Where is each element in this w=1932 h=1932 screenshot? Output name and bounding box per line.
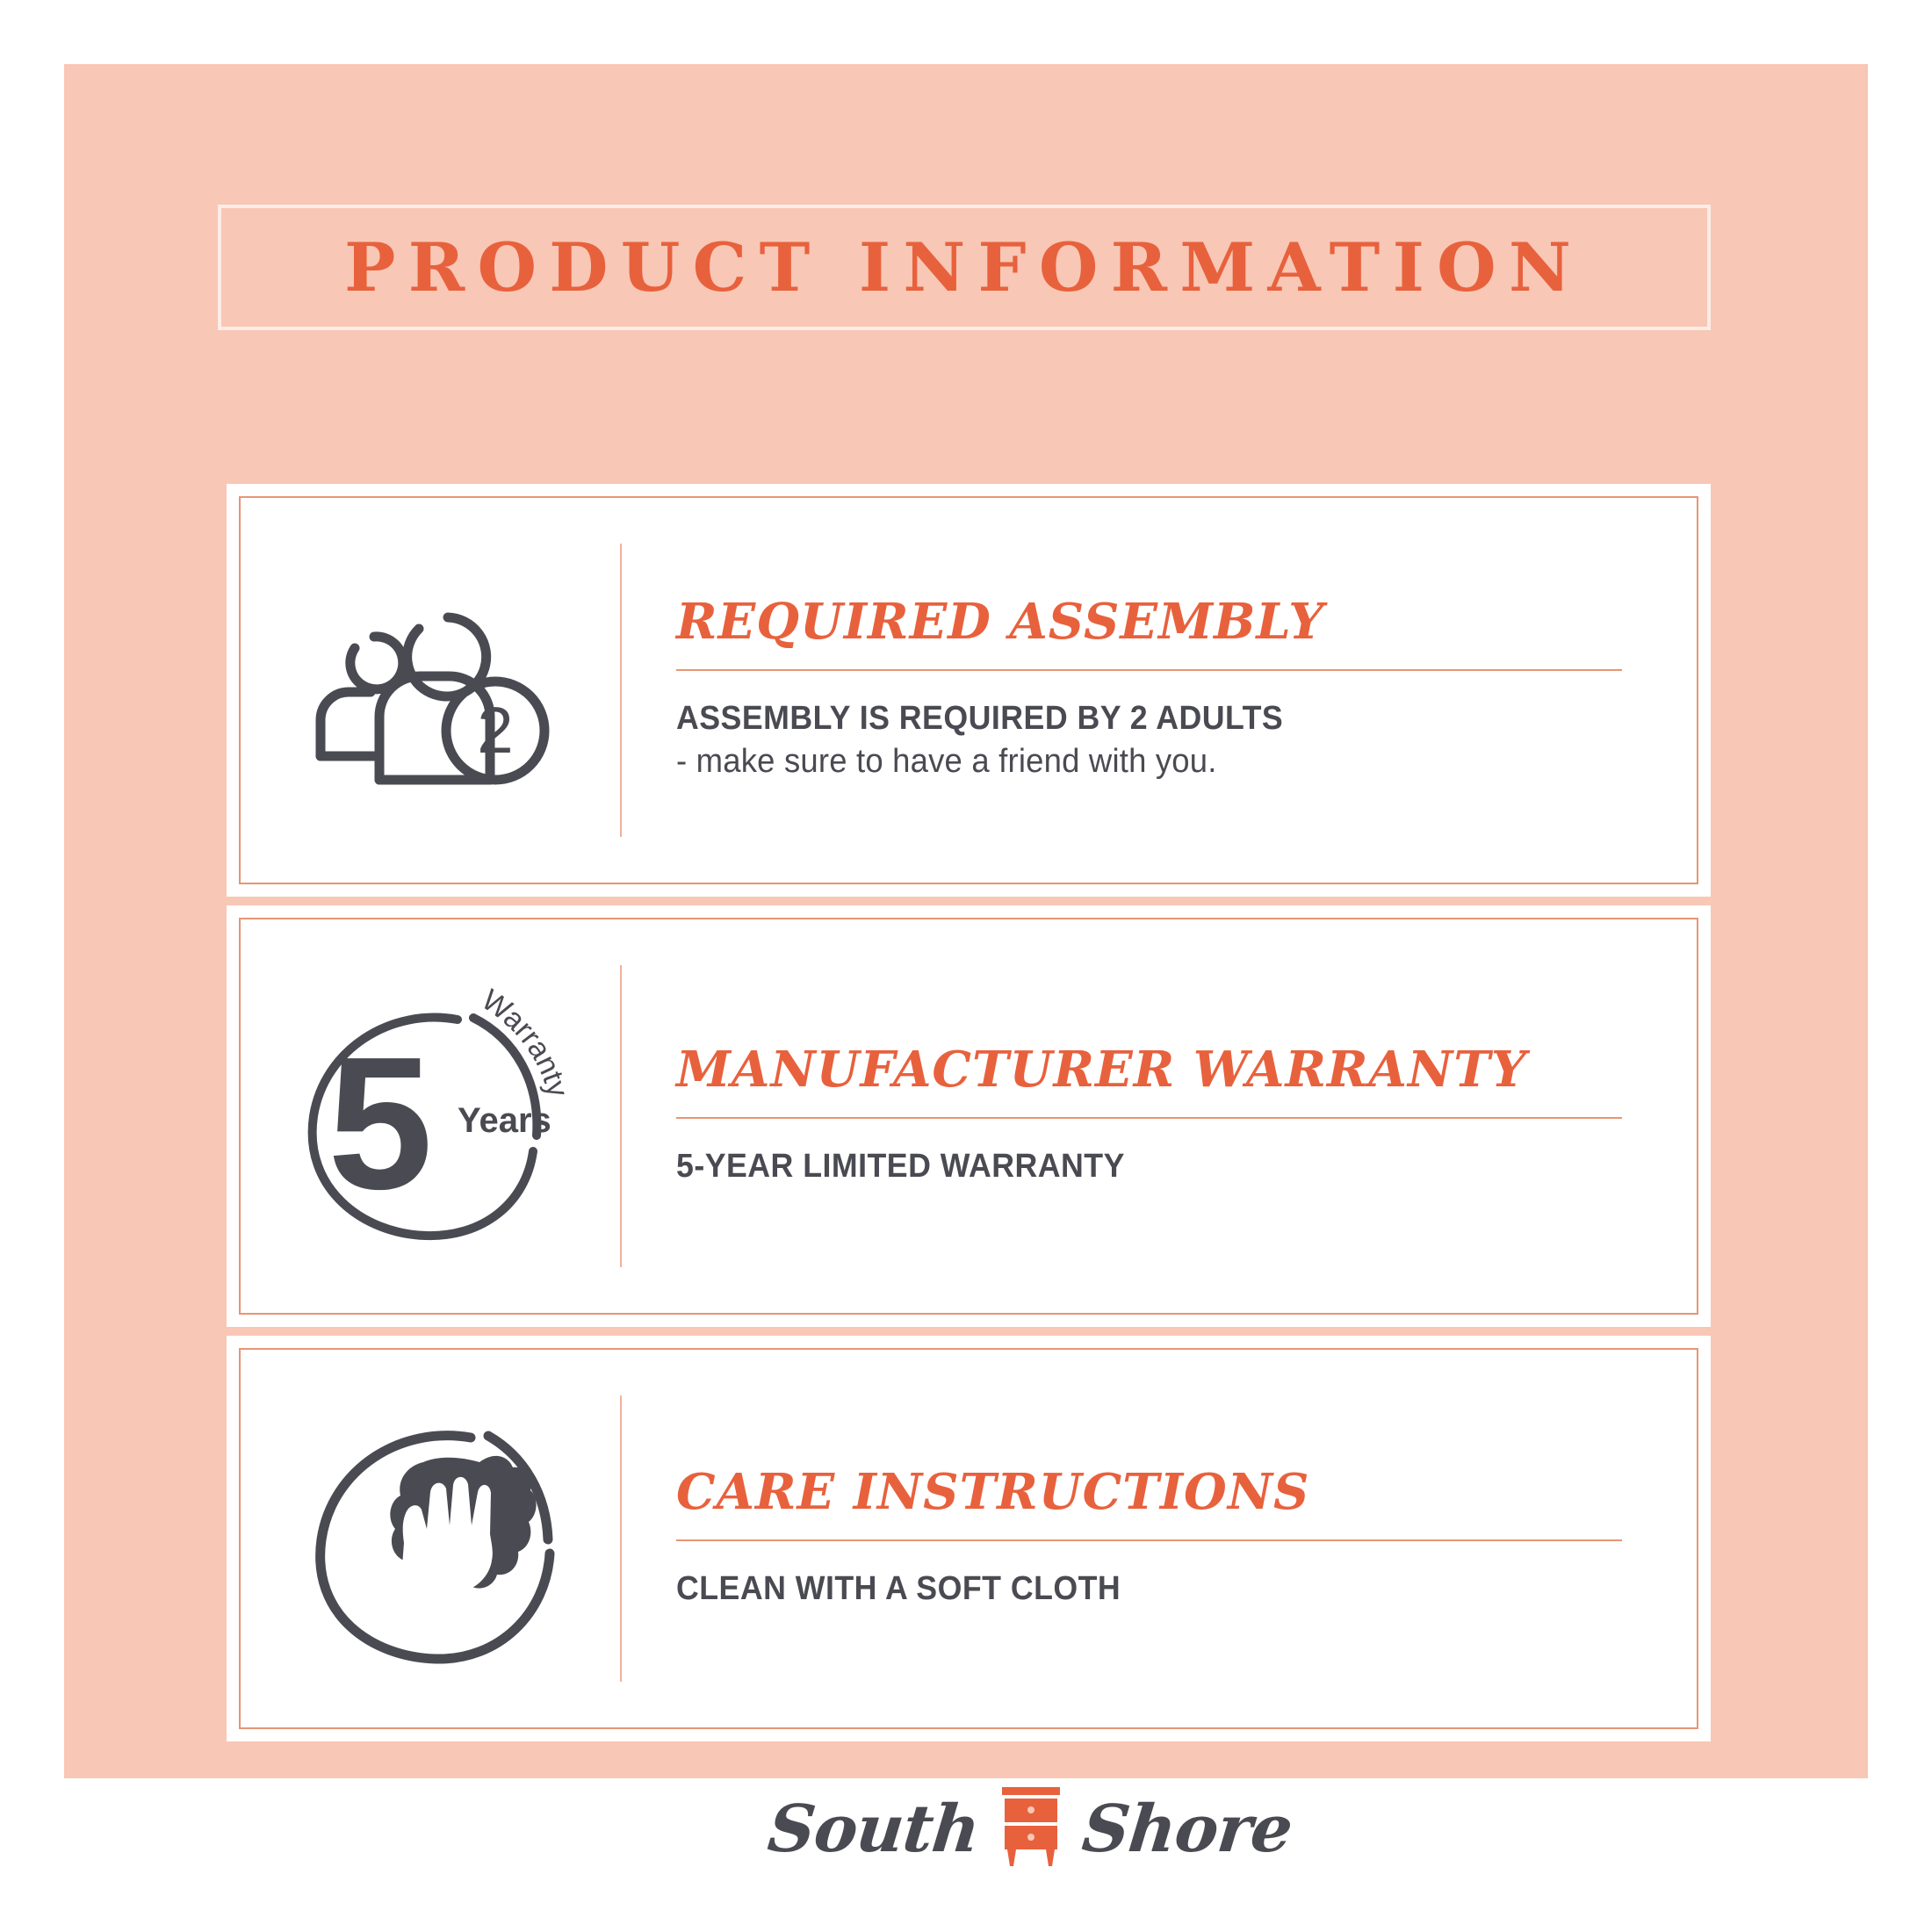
logo-mark-wrapper bbox=[998, 1785, 1063, 1874]
warranty-icon-container: 5 Years Warranty bbox=[241, 984, 620, 1248]
care-icon-container bbox=[241, 1411, 620, 1666]
care-text-column: CARE INSTRUCTIONS CLEAN WITH A SOFT CLOT… bbox=[622, 1467, 1697, 1611]
salmon-background-panel: PRODUCT INFORMATION bbox=[64, 64, 1868, 1778]
card-heading-warranty: MANUFACTURER WARRANTY bbox=[676, 1045, 1662, 1094]
assembly-badge-number: 2 bbox=[477, 694, 513, 767]
card-heading-care: CARE INSTRUCTIONS bbox=[676, 1467, 1662, 1517]
card-inner-border: CARE INSTRUCTIONS CLEAN WITH A SOFT CLOT… bbox=[239, 1348, 1698, 1729]
card-manufacturer-warranty: 5 Years Warranty MANUFACTURER W bbox=[227, 905, 1711, 1327]
heading-rule bbox=[676, 1117, 1622, 1119]
south-shore-logo: South Shore bbox=[64, 1759, 1932, 1900]
card-heading-assembly: REQUIRED ASSEMBLY bbox=[676, 597, 1662, 646]
warranty-text-column: MANUFACTURER WARRANTY 5-YEAR LIMITED WAR… bbox=[622, 1045, 1697, 1188]
hand-with-cloth-circle-icon bbox=[299, 1411, 562, 1666]
warranty-body: 5-YEAR LIMITED WARRANTY bbox=[676, 1145, 1662, 1188]
nightstand-dresser-icon bbox=[998, 1785, 1063, 1870]
logo-word-shore: Shore bbox=[1078, 1791, 1295, 1867]
two-people-with-2-badge-icon: 2 bbox=[299, 576, 562, 804]
assembly-body-primary: ASSEMBLY IS REQUIRED BY 2 ADULTS bbox=[676, 697, 1603, 740]
card-inner-border: 5 Years Warranty MANUFACTURER W bbox=[239, 918, 1698, 1315]
assembly-text-column: REQUIRED ASSEMBLY ASSEMBLY IS REQUIRED B… bbox=[622, 597, 1697, 783]
logo-word-south: South bbox=[765, 1791, 984, 1867]
assembly-body-secondary: - make sure to have a friend with you. bbox=[676, 740, 1622, 783]
infographic-page: PRODUCT INFORMATION bbox=[0, 0, 1932, 1932]
care-body: CLEAN WITH A SOFT CLOTH bbox=[676, 1568, 1662, 1611]
assembly-icon-container: 2 bbox=[241, 576, 620, 804]
page-title-box: PRODUCT INFORMATION bbox=[218, 205, 1711, 330]
heading-rule bbox=[676, 669, 1622, 671]
page-title: PRODUCT INFORMATION bbox=[345, 234, 1584, 301]
card-inner-border: 2 REQUIRED ASSEMBLY ASSEMBLY IS REQUIRED… bbox=[239, 496, 1698, 884]
card-care-instructions: CARE INSTRUCTIONS CLEAN WITH A SOFT CLOT… bbox=[227, 1336, 1711, 1741]
warranty-body-primary: 5-YEAR LIMITED WARRANTY bbox=[676, 1145, 1603, 1188]
heading-rule bbox=[676, 1539, 1622, 1541]
card-required-assembly: 2 REQUIRED ASSEMBLY ASSEMBLY IS REQUIRED… bbox=[227, 484, 1711, 897]
assembly-body: ASSEMBLY IS REQUIRED BY 2 ADULTS - make … bbox=[676, 697, 1662, 783]
warranty-years-label: Years bbox=[458, 1101, 551, 1140]
warranty-arc-label: Warranty bbox=[476, 984, 575, 1100]
care-body-primary: CLEAN WITH A SOFT CLOTH bbox=[676, 1568, 1603, 1611]
warranty-number: 5 bbox=[328, 1017, 433, 1229]
five-years-warranty-circle-icon: 5 Years Warranty bbox=[285, 984, 575, 1248]
